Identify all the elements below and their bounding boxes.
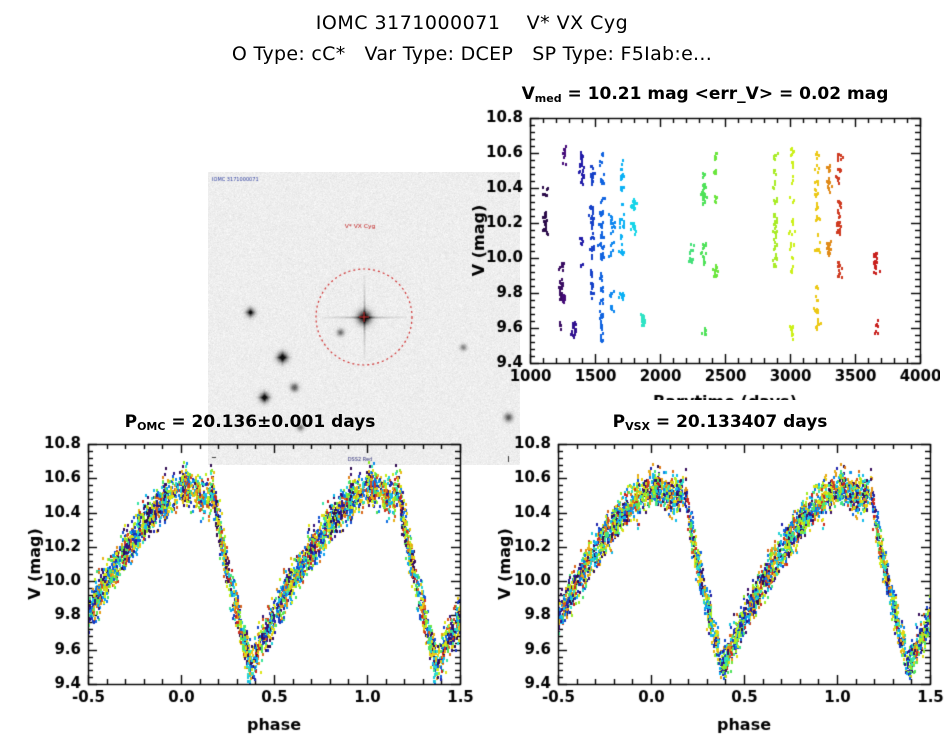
- p-vsx-prefix: P: [613, 412, 625, 432]
- p-omc-value: = 20.136±0.001 days: [165, 412, 375, 432]
- finding-chart-container[interactable]: [104, 86, 416, 379]
- p-omc-prefix: P: [125, 412, 137, 432]
- header-titles: IOMC 3171000071 V* VX Cyg O Type: cC* Va…: [0, 0, 944, 65]
- barytime-lightcurve-chart: [470, 100, 940, 400]
- phase-folded-omc-chart: [20, 430, 480, 740]
- phase-folded-vsx-chart: [490, 430, 944, 740]
- page-title: IOMC 3171000071 V* VX Cyg: [0, 12, 944, 34]
- object-classification: O Type: cC* Var Type: DCEP SP Type: F5Ia…: [0, 43, 944, 65]
- p-vsx-value: = 20.133407 days: [650, 412, 827, 432]
